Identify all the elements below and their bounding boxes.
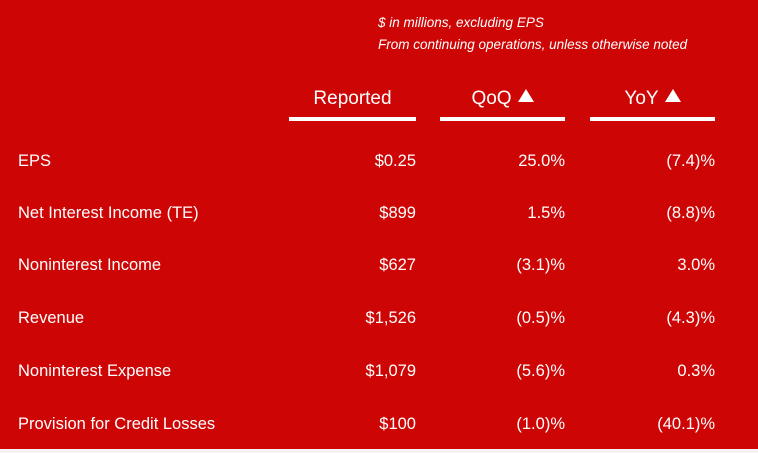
- slide-bottom-edge: [0, 449, 758, 453]
- row-value-qoq: (3.1)%: [440, 239, 565, 291]
- row-label: Noninterest Income: [18, 239, 280, 291]
- table-row: Noninterest Expense $1,079 (5.6)% 0.3%: [0, 345, 758, 397]
- table-row: EPS $0.25 25.0% (7.4)%: [0, 135, 758, 187]
- table-row: Revenue $1,526 (0.5)% (4.3)%: [0, 292, 758, 344]
- row-value-yoy: 0.3%: [590, 345, 715, 397]
- table-row: Net Interest Income (TE) $899 1.5% (8.8)…: [0, 187, 758, 239]
- row-value-reported: $1,526: [289, 292, 416, 344]
- row-value-reported: $627: [289, 239, 416, 291]
- row-value-reported: $0.25: [289, 135, 416, 187]
- metrics-table: EPS $0.25 25.0% (7.4)% Net Interest Inco…: [0, 0, 758, 453]
- row-value-yoy: (7.4)%: [590, 135, 715, 187]
- row-value-qoq: (5.6)%: [440, 345, 565, 397]
- row-label: Revenue: [18, 292, 280, 344]
- row-value-reported: $899: [289, 187, 416, 239]
- row-value-yoy: (40.1)%: [590, 398, 715, 450]
- financial-metrics-slide: $ in millions, excluding EPS From contin…: [0, 0, 758, 453]
- row-value-yoy: (4.3)%: [590, 292, 715, 344]
- table-row: Provision for Credit Losses $100 (1.0)% …: [0, 398, 758, 450]
- row-value-reported: $100: [289, 398, 416, 450]
- row-value-qoq: 1.5%: [440, 187, 565, 239]
- row-value-qoq: (0.5)%: [440, 292, 565, 344]
- row-label: Provision for Credit Losses: [18, 398, 280, 450]
- table-row: Noninterest Income $627 (3.1)% 3.0%: [0, 239, 758, 291]
- row-value-reported: $1,079: [289, 345, 416, 397]
- row-label: Net Interest Income (TE): [18, 187, 280, 239]
- row-value-yoy: (8.8)%: [590, 187, 715, 239]
- row-label: EPS: [18, 135, 280, 187]
- row-value-qoq: 25.0%: [440, 135, 565, 187]
- row-label: Noninterest Expense: [18, 345, 280, 397]
- row-value-yoy: 3.0%: [590, 239, 715, 291]
- row-value-qoq: (1.0)%: [440, 398, 565, 450]
